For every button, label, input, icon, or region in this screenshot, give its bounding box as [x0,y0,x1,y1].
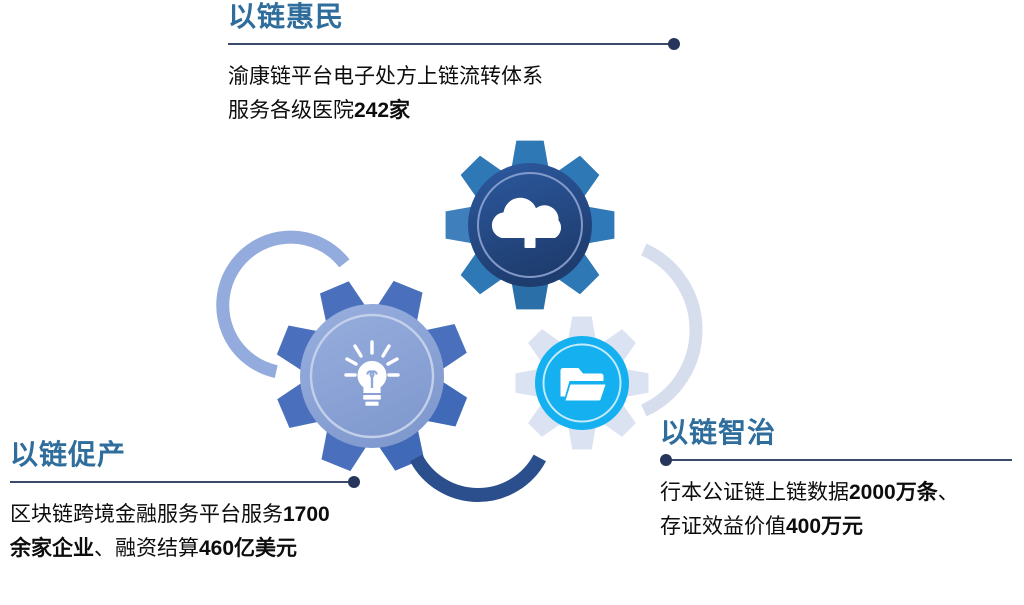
block-top: 以链惠民 渝康链平台电子处方上链流转体系 服务各级医院242家 [228,2,698,128]
block-bottom-right-body: 行本公证链上链数据2000万条、 存证效益价值400万元 [660,476,1024,544]
rule-dot [668,38,680,50]
block-bottom-right-body-line-2: 存证效益价值400万元 [660,510,1024,544]
block-top-body: 渝康链平台电子处方上链流转体系 服务各级医院242家 [228,60,698,128]
block-top-body-line-2: 服务各级医院242家 [228,94,698,128]
block-bottom-left-heading: 以链促产 [10,440,410,469]
circle-cyan-folder [535,336,629,430]
rule-line [666,459,1012,461]
block-top-rule [228,37,680,51]
block-top-heading: 以链惠民 [228,2,698,31]
arc-right-icon [644,250,696,411]
gear-dark-cloud [444,139,616,311]
block-bottom-left-body-line-2: 余家企业、融资结算460亿美元 [10,532,410,566]
rule-line [228,43,672,45]
block-bottom-left-rule [10,475,360,489]
rule-dot [348,476,360,488]
infographic-canvas: 以链惠民 渝康链平台电子处方上链流转体系 服务各级医院242家 以链促产 区块链… [0,0,1024,605]
block-bottom-left: 以链促产 区块链跨境金融服务平台服务1700 余家企业、融资结算460亿美元 [10,440,410,566]
block-bottom-right-heading: 以链智治 [660,418,1024,447]
arc-bottom-icon [416,458,540,495]
block-bottom-right-rule [660,453,1012,467]
block-bottom-left-body: 区块链跨境金融服务平台服务1700 余家企业、融资结算460亿美元 [10,498,410,566]
block-bottom-left-body-line-1: 区块链跨境金融服务平台服务1700 [10,498,410,532]
block-top-body-line-1: 渝康链平台电子处方上链流转体系 [228,60,698,94]
block-bottom-right: 以链智治 行本公证链上链数据2000万条、 存证效益价值400万元 [660,418,1024,544]
block-bottom-right-body-line-1: 行本公证链上链数据2000万条、 [660,476,1024,510]
rule-line [10,481,354,483]
rule-dot [660,454,672,466]
